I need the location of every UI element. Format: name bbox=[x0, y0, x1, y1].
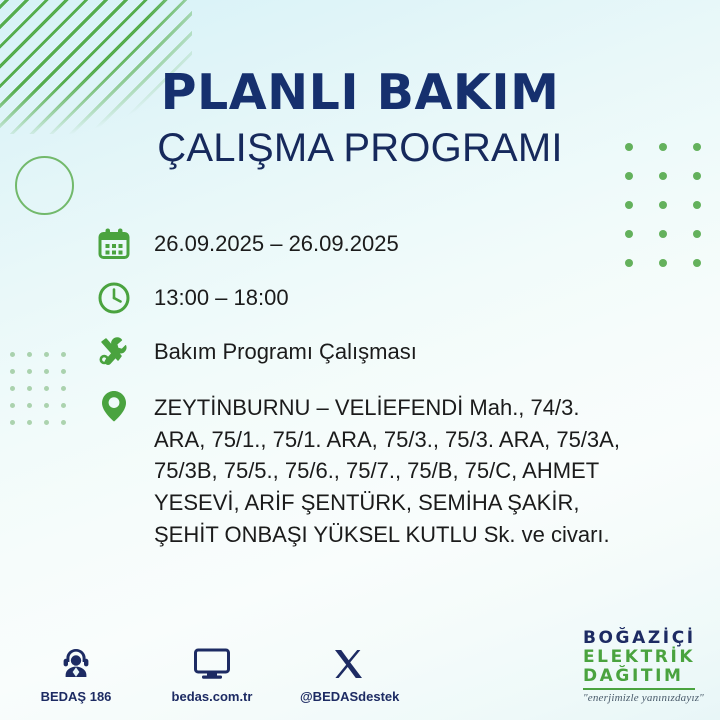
decorative-dot bbox=[61, 420, 66, 425]
contact-social-label: @BEDASdestek bbox=[300, 689, 399, 704]
decorative-dot bbox=[659, 259, 667, 267]
location-pin-icon bbox=[96, 388, 132, 424]
support-headset-icon bbox=[28, 641, 124, 681]
decorative-dot bbox=[10, 386, 15, 391]
footer-contacts: BEDAŞ 186 bedas.com.tr @BEDASdestek bbox=[28, 641, 396, 706]
calendar-icon bbox=[96, 226, 132, 262]
decorative-dot bbox=[10, 403, 15, 408]
decorative-dot bbox=[27, 369, 32, 374]
date-range-value: 26.09.2025 – 26.09.2025 bbox=[154, 226, 399, 259]
decorative-dot bbox=[61, 369, 66, 374]
decorative-dot bbox=[693, 230, 701, 238]
info-row-location: ZEYTİNBURNU – VELİEFENDİ Mah., 74/3. ARA… bbox=[96, 388, 656, 550]
clock-icon bbox=[96, 280, 132, 316]
brand-divider bbox=[583, 688, 695, 690]
decorative-dot bbox=[693, 201, 701, 209]
decorative-dot bbox=[659, 201, 667, 209]
page-subtitle: ÇALIŞMA PROGRAMI bbox=[0, 128, 720, 168]
decorative-dot bbox=[44, 386, 49, 391]
info-row-date: 26.09.2025 – 26.09.2025 bbox=[96, 226, 656, 262]
decorative-dot bbox=[61, 386, 66, 391]
decorative-dot bbox=[61, 403, 66, 408]
dot-grid-left-decoration bbox=[10, 352, 78, 437]
decorative-dot bbox=[625, 201, 633, 209]
decorative-dot bbox=[10, 420, 15, 425]
brand-line-1: BOĞAZİÇİ bbox=[583, 630, 704, 647]
decorative-dot bbox=[27, 403, 32, 408]
info-row-time: 13:00 – 18:00 bbox=[96, 280, 656, 316]
contact-website-label: bedas.com.tr bbox=[172, 689, 253, 704]
location-value: ZEYTİNBURNU – VELİEFENDİ Mah., 74/3. ARA… bbox=[154, 388, 624, 550]
x-twitter-icon bbox=[300, 641, 396, 681]
planned-maintenance-poster: PLANLI BAKIM ÇALIŞMA PROGRAMI 26 bbox=[0, 0, 720, 720]
decorative-dot bbox=[44, 352, 49, 357]
decorative-dot bbox=[693, 259, 701, 267]
page-title: PLANLI BAKIM bbox=[0, 68, 720, 117]
contact-website[interactable]: bedas.com.tr bbox=[164, 641, 260, 706]
decorative-dot bbox=[10, 369, 15, 374]
decorative-dot bbox=[625, 172, 633, 180]
brand-tagline: "enerjimizle yanınızdayız" bbox=[583, 693, 704, 704]
brand-line-3: DAĞITIM bbox=[583, 668, 704, 685]
poster-header: PLANLI BAKIM ÇALIŞMA PROGRAMI bbox=[0, 68, 720, 168]
work-type-value: Bakım Programı Çalışması bbox=[154, 334, 417, 367]
decorative-dot bbox=[27, 352, 32, 357]
info-list: 26.09.2025 – 26.09.2025 13:00 – 18:00 bbox=[96, 226, 656, 550]
contact-phone-label: BEDAŞ 186 bbox=[41, 689, 112, 704]
decorative-dot bbox=[27, 386, 32, 391]
decorative-dot bbox=[27, 420, 32, 425]
brand-logo: BOĞAZİÇİ ELEKTRİK DAĞITIM "enerjimizle y… bbox=[583, 630, 704, 704]
decorative-dot bbox=[44, 420, 49, 425]
brand-line-2: ELEKTRİK bbox=[583, 649, 704, 666]
decorative-dot bbox=[693, 172, 701, 180]
monitor-icon bbox=[164, 641, 260, 681]
decorative-dot bbox=[44, 369, 49, 374]
tools-icon bbox=[96, 334, 132, 370]
decorative-dot bbox=[61, 352, 66, 357]
contact-social[interactable]: @BEDASdestek bbox=[300, 641, 396, 706]
decorative-dot bbox=[10, 352, 15, 357]
decorative-dot bbox=[659, 230, 667, 238]
decorative-dot bbox=[659, 172, 667, 180]
contact-phone[interactable]: BEDAŞ 186 bbox=[28, 641, 124, 706]
info-row-work-type: Bakım Programı Çalışması bbox=[96, 334, 656, 370]
decorative-dot bbox=[44, 403, 49, 408]
time-range-value: 13:00 – 18:00 bbox=[154, 280, 289, 313]
